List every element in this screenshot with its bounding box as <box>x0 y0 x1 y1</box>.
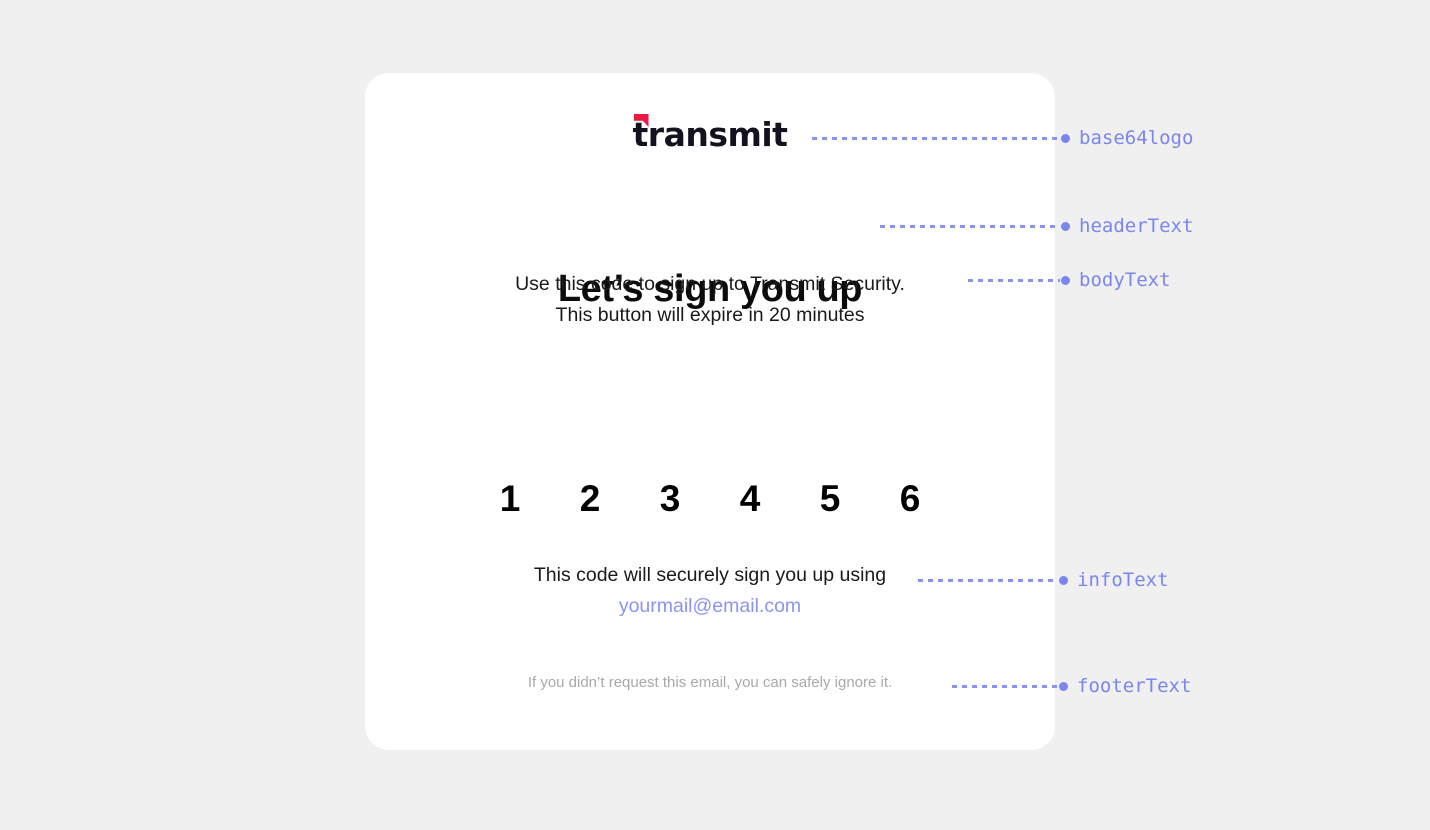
body-text: Use this code to sign up to Transmit Sec… <box>365 269 1055 331</box>
leader-dot-icon <box>1061 276 1070 285</box>
recipient-email-link[interactable]: yourmail@email.com <box>365 592 1055 620</box>
leader-line <box>812 137 1060 140</box>
leader-dot-icon <box>1059 576 1068 585</box>
otp-digit: 2 <box>550 478 630 520</box>
annotation-label: bodyText <box>1079 269 1171 291</box>
annotation-bodyText: bodyText <box>968 270 1171 290</box>
leader-dot-icon <box>1061 222 1070 231</box>
logo-wordmark: transmit <box>633 115 788 154</box>
annotation-infoText: infoText <box>918 570 1169 590</box>
leader-dot-icon <box>1059 682 1068 691</box>
annotation-base64logo: base64logo <box>812 128 1193 148</box>
email-template-card: transmit Let’s sign you up Use this code… <box>365 73 1055 750</box>
otp-digit: 5 <box>790 478 870 520</box>
annotation-label: infoText <box>1077 569 1169 591</box>
otp-digit: 3 <box>630 478 710 520</box>
annotation-label: footerText <box>1077 675 1191 697</box>
annotation-headerText: headerText <box>880 216 1193 236</box>
body-text-line-2: This button will expire in 20 minutes <box>365 300 1055 331</box>
leader-line <box>880 225 1060 228</box>
leader-line <box>952 685 1058 688</box>
leader-dot-icon <box>1061 134 1070 143</box>
info-text-message: This code will securely sign you up usin… <box>534 564 886 586</box>
body-text-line-1: Use this code to sign up to Transmit Sec… <box>365 269 1055 300</box>
leader-line <box>918 579 1058 582</box>
otp-digit: 6 <box>870 478 950 520</box>
leader-line <box>968 279 1060 282</box>
otp-digit: 1 <box>470 478 550 520</box>
otp-code: 1 2 3 4 5 6 <box>365 478 1055 520</box>
annotation-label: base64logo <box>1079 127 1193 149</box>
annotation-label: headerText <box>1079 215 1193 237</box>
otp-digit: 4 <box>710 478 790 520</box>
transmit-logo: transmit <box>633 118 788 151</box>
annotation-footerText: footerText <box>952 676 1191 696</box>
